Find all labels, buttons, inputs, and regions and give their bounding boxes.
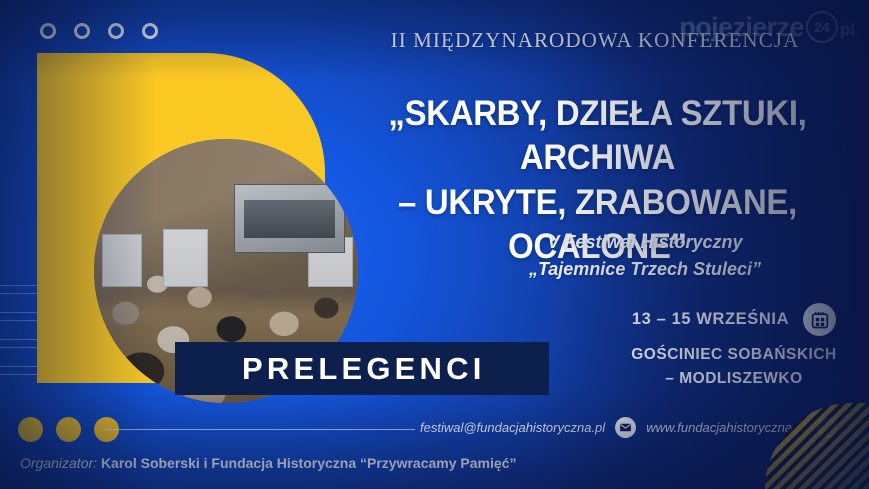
organizer-label: Organizator:	[20, 455, 97, 471]
prelegenci-label: PRELEGENCI	[242, 351, 486, 387]
decor-ring-4	[142, 23, 158, 39]
contact-email[interactable]: festiwal@fundacjahistoryczna.pl	[420, 420, 605, 435]
contact-website[interactable]: www.fundacjahistoryczna.pl	[646, 420, 806, 435]
contact-bar: festiwal@fundacjahistoryczna.pl www.fund…	[420, 417, 837, 438]
decor-dots-bottom	[18, 417, 119, 442]
subtitle-line-2: „Tajemnice Trzech Stuleci”	[430, 256, 860, 283]
footer-divider	[105, 429, 415, 430]
decor-dots-top	[40, 23, 158, 39]
festival-subtitle: V Festiwal Historyczny „Tajemnice Trzech…	[430, 229, 860, 283]
photo-card-yellow-frame	[37, 53, 325, 383]
subtitle-line-1: V Festiwal Historyczny	[430, 229, 860, 256]
calendar-icon	[803, 303, 836, 336]
prelegenci-banner: PRELEGENCI	[175, 342, 549, 395]
decor-dot-2	[56, 417, 81, 442]
envelope-icon	[615, 417, 636, 438]
organizer-line: Organizator: Karol Soberski i Fundacja H…	[20, 455, 516, 471]
decor-ring-2	[74, 23, 90, 39]
conference-kicker: II MIĘDZYNARODOWA KONFERENCJA	[330, 28, 860, 53]
organizer-value: Karol Soberski i Fundacja Historyczna “P…	[101, 455, 517, 471]
venue-line-2: – MODLISZEWKO	[600, 367, 868, 391]
venue-line-1: GOŚCINIEC SOBAŃSKICH	[600, 343, 868, 367]
title-line-1: „SKARBY, DZIEŁA SZTUKI, ARCHIWA	[346, 92, 849, 181]
decor-ring-3	[108, 23, 124, 39]
decor-corner-stripes	[765, 403, 869, 489]
event-venue: GOŚCINIEC SOBAŃSKICH – MODLISZEWKO	[600, 343, 868, 390]
conference-poster: pojezierze 24 pl PRELEGENCI	[0, 0, 869, 489]
event-dates: 13 – 15 WRZEŚNIA	[632, 310, 789, 329]
decor-ring-1	[40, 23, 56, 39]
decor-dot-1	[18, 417, 43, 442]
event-dates-row: 13 – 15 WRZEŚNIA	[600, 303, 868, 336]
